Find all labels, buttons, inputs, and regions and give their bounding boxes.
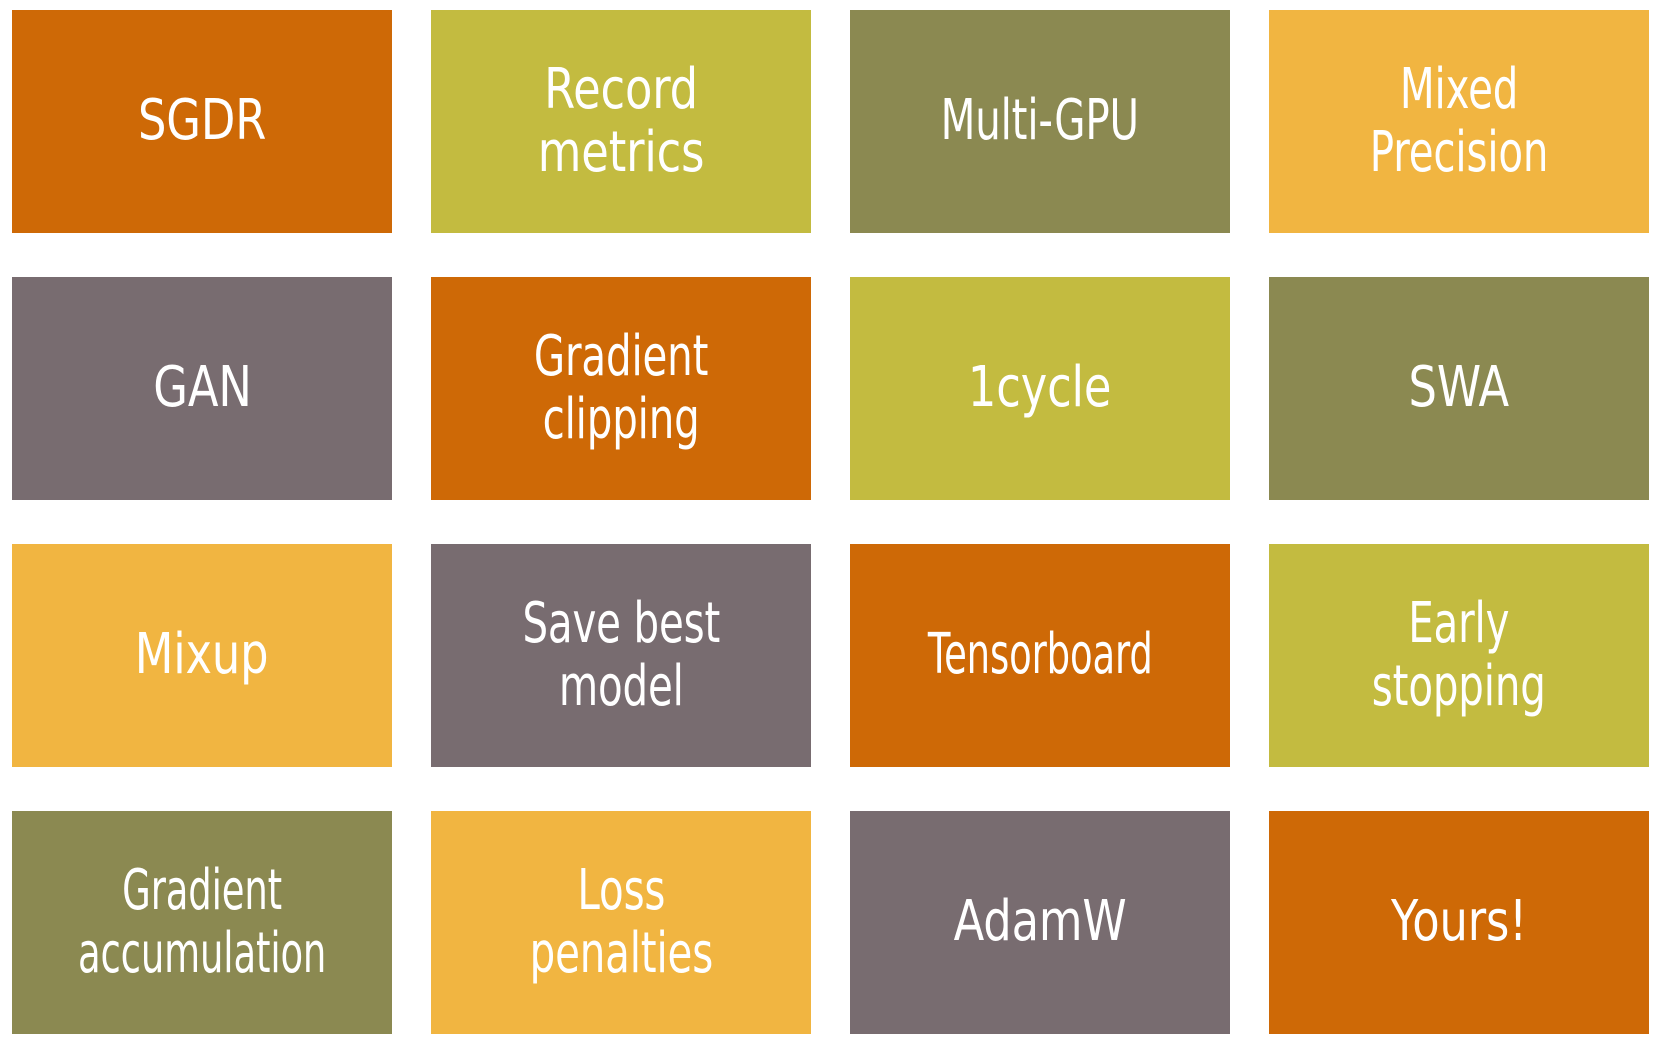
tile-label: SWA: [1409, 357, 1509, 420]
tile-early-stopping[interactable]: Early stopping: [1269, 544, 1649, 767]
tile-gradient-accumulation[interactable]: Gradient accumulation: [12, 811, 392, 1034]
tile-label: Multi-GPU: [941, 90, 1139, 153]
tile-label: Mixed Precision: [1370, 59, 1549, 184]
tile-label: Gradient clipping: [534, 326, 708, 451]
tile-adamw[interactable]: AdamW: [850, 811, 1230, 1034]
tile-yours[interactable]: Yours!: [1269, 811, 1649, 1034]
tile-gan[interactable]: GAN: [12, 277, 392, 500]
tile-label: Early stopping: [1372, 593, 1546, 718]
tile-label: Record metrics: [538, 59, 704, 184]
tile-swa[interactable]: SWA: [1269, 277, 1649, 500]
tile-mixed-precision[interactable]: Mixed Precision: [1269, 10, 1649, 233]
tile-record-metrics[interactable]: Record metrics: [431, 10, 811, 233]
tile-label: Mixup: [135, 624, 269, 687]
tile-save-best-model[interactable]: Save best model: [431, 544, 811, 767]
tile-gradient-clipping[interactable]: Gradient clipping: [431, 277, 811, 500]
tile-1cycle[interactable]: 1cycle: [850, 277, 1230, 500]
tile-label: Yours!: [1391, 891, 1527, 954]
tile-mixup[interactable]: Mixup: [12, 544, 392, 767]
tile-label: Tensorboard: [928, 624, 1153, 687]
tile-label: GAN: [153, 357, 251, 420]
tile-label: AdamW: [954, 891, 1127, 954]
tile-grid: SGDR Record metrics Multi-GPU Mixed Prec…: [12, 10, 1650, 1035]
tile-label: Save best model: [522, 593, 720, 718]
tile-sgdr[interactable]: SGDR: [12, 10, 392, 233]
tile-loss-penalties[interactable]: Loss penalties: [431, 811, 811, 1034]
tile-label: 1cycle: [968, 357, 1111, 420]
tile-multi-gpu[interactable]: Multi-GPU: [850, 10, 1230, 233]
tile-label: SGDR: [138, 90, 266, 153]
tile-label: Loss penalties: [529, 860, 712, 985]
tile-label: Gradient accumulation: [78, 860, 326, 985]
tile-tensorboard[interactable]: Tensorboard: [850, 544, 1230, 767]
